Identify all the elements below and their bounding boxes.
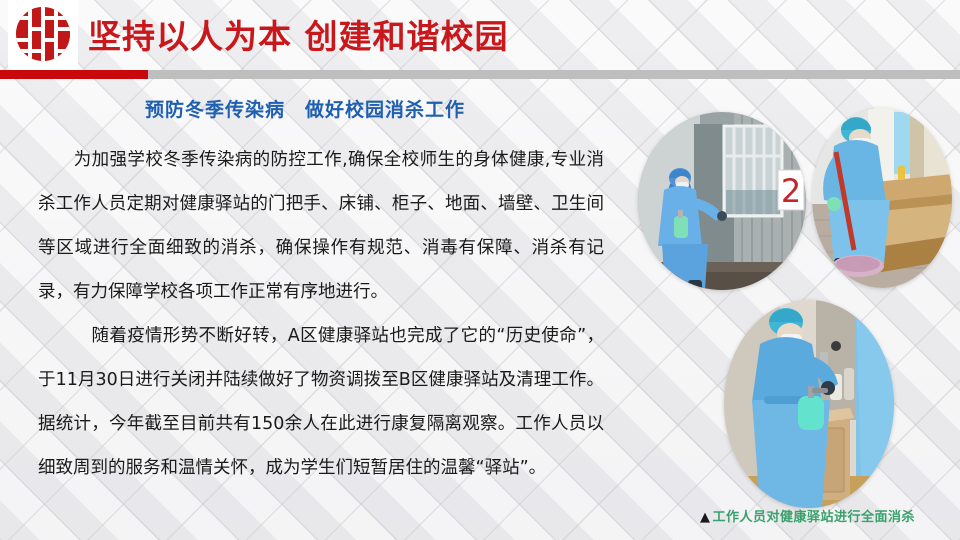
divider-red-segment	[0, 70, 148, 79]
photo-floor-mopping	[812, 108, 952, 288]
triangle-marker-icon: ▲	[700, 510, 711, 525]
svg-text:2: 2	[781, 172, 801, 210]
slide-canvas: 坚持以人为本 创建和谐校园 预防冬季传染病 做好校园消杀工作 为加强学校冬季传染…	[0, 0, 960, 540]
photo-cabinet-spraying-graphic	[724, 300, 894, 508]
divider-grey-segment	[148, 70, 960, 79]
article-body: 为加强学校冬季传染病的防控工作,确保全校师生的身体健康,专业消杀工作人员定期对健…	[38, 138, 604, 490]
section-subtitle: 预防冬季传染病 做好校园消杀工作	[0, 95, 610, 122]
page-title: 坚持以人为本 创建和谐校园	[88, 10, 509, 58]
paragraph-2: 随着疫情形势不断好转，A区健康驿站也完成了它的“历史使命”，于11月30日进行关…	[38, 314, 604, 490]
paragraph-1: 为加强学校冬季传染病的防控工作,确保全校师生的身体健康,专业消杀工作人员定期对健…	[38, 138, 604, 314]
photo-caption-text: 工作人员对健康驿站进行全面消杀	[713, 510, 916, 525]
header-divider	[0, 70, 960, 79]
photo-caption: ▲工作人员对健康驿站进行全面消杀	[700, 506, 960, 525]
photo-cabinet-spraying	[724, 300, 894, 508]
photo-floor-mopping-graphic	[812, 108, 952, 288]
photo-door-disinfection-graphic: 2	[638, 112, 806, 290]
logo-container	[8, 0, 78, 70]
school-emblem-icon	[16, 7, 70, 61]
photo-door-disinfection: 2	[638, 112, 806, 290]
